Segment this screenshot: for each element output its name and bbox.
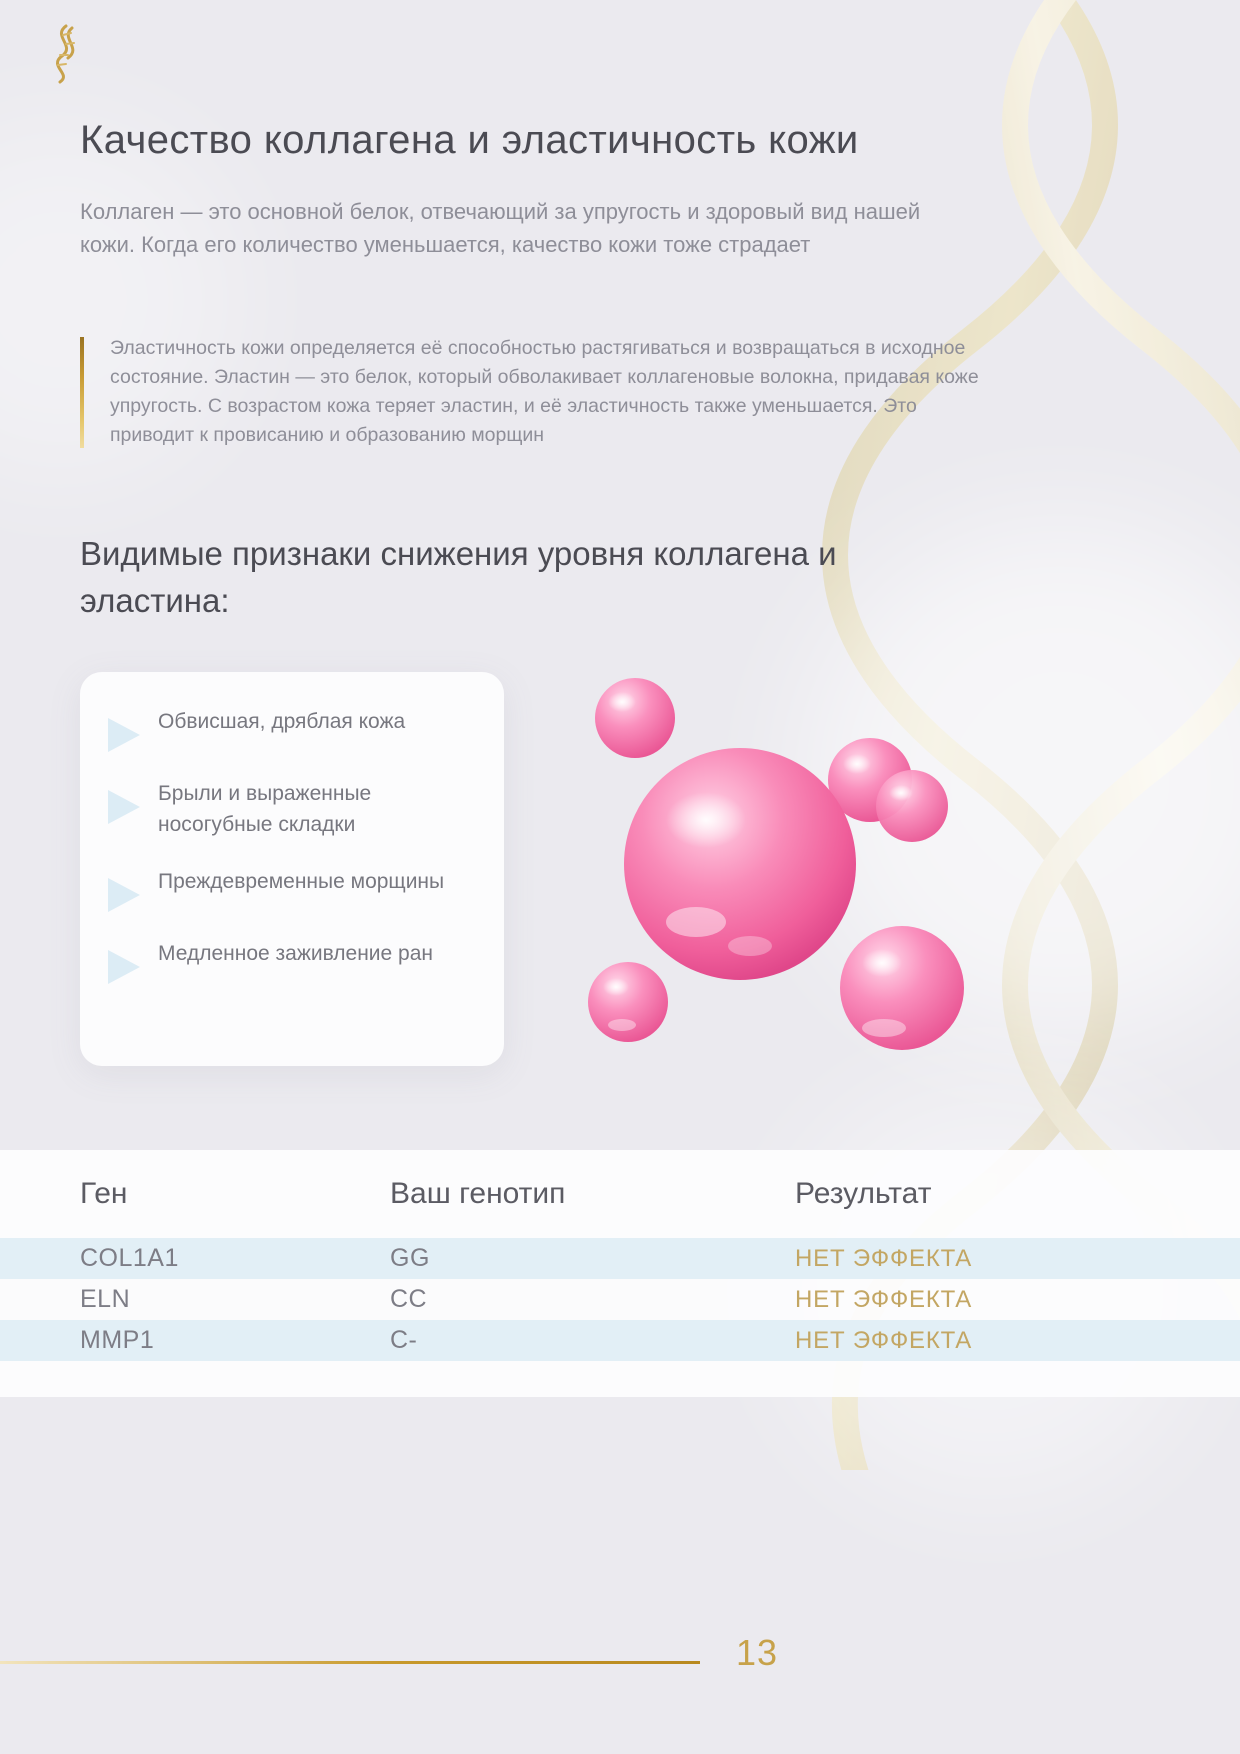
triangle-right-icon — [108, 950, 140, 984]
column-header-gene: Ген — [80, 1177, 390, 1211]
table-row: MMP1 C- НЕТ ЭФФЕКТА — [0, 1320, 1240, 1361]
signs-card: Обвисшая, дряблая кожа Брыли и выраженны… — [80, 672, 504, 1066]
column-header-genotype: Ваш генотип — [390, 1177, 795, 1211]
cell-genotype: GG — [390, 1244, 795, 1273]
cell-result: НЕТ ЭФФЕКТА — [795, 1286, 1160, 1314]
intro-paragraph: Коллаген — это основной белок, отвечающи… — [80, 195, 980, 261]
list-item-label: Преждевременные морщины — [158, 866, 444, 897]
cell-result: НЕТ ЭФФЕКТА — [795, 1245, 1160, 1273]
table-row: ELN CC НЕТ ЭФФЕКТА — [0, 1279, 1240, 1320]
list-item-label: Обвисшая, дряблая кожа — [158, 706, 405, 737]
column-header-result: Результат — [795, 1177, 1160, 1211]
triangle-right-icon — [108, 790, 140, 824]
cell-gene: ELN — [80, 1285, 390, 1314]
cell-genotype: CC — [390, 1285, 795, 1314]
cell-gene: COL1A1 — [80, 1244, 390, 1273]
cell-gene: MMP1 — [80, 1326, 390, 1355]
page-title: Качество коллагена и эластичность кожи — [80, 118, 859, 163]
page-number: 13 — [736, 1632, 778, 1674]
pink-collagen-bubbles-illustration — [560, 660, 1020, 1080]
list-item: Преждевременные морщины — [104, 866, 478, 912]
list-item: Медленное заживление ран — [104, 938, 478, 984]
signs-heading: Видимые признаки снижения уровня коллаге… — [80, 530, 900, 624]
dna-helix-icon — [36, 22, 92, 86]
triangle-right-icon — [108, 878, 140, 912]
table-bottom-spacer — [0, 1361, 1240, 1397]
list-item-label: Медленное заживление ран — [158, 938, 433, 969]
cell-result: НЕТ ЭФФЕКТА — [795, 1327, 1160, 1355]
triangle-right-icon — [108, 718, 140, 752]
list-item: Обвисшая, дряблая кожа — [104, 706, 478, 752]
report-page: Качество коллагена и эластичность кожи К… — [0, 0, 1240, 1754]
callout-block: Эластичность кожи определяется её способ… — [80, 334, 980, 450]
list-item-label: Брыли и выраженные носогубные складки — [158, 778, 478, 840]
footer-divider — [0, 1661, 700, 1664]
genotype-results-table: Ген Ваш генотип Результат COL1A1 GG НЕТ … — [0, 1150, 1240, 1397]
list-item: Брыли и выраженные носогубные складки — [104, 778, 478, 840]
table-header-row: Ген Ваш генотип Результат — [0, 1150, 1240, 1238]
table-row: COL1A1 GG НЕТ ЭФФЕКТА — [0, 1238, 1240, 1279]
cell-genotype: C- — [390, 1326, 795, 1355]
